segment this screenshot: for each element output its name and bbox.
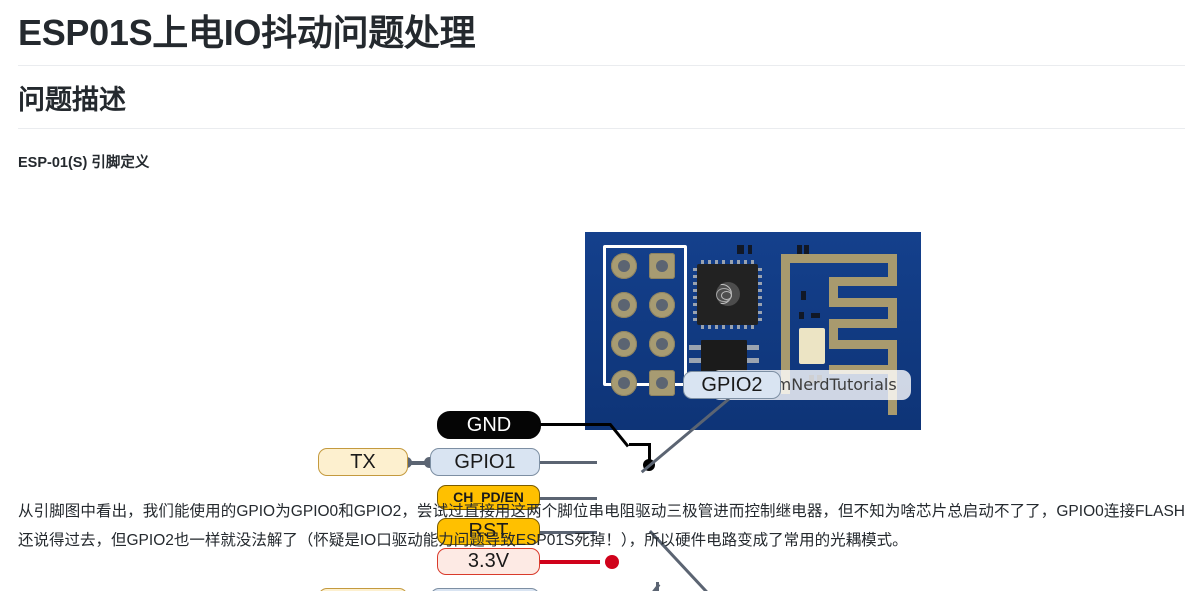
pad-chpd bbox=[611, 292, 637, 318]
chip-leads-left bbox=[693, 268, 697, 321]
wire-3v3-terminal bbox=[605, 555, 619, 569]
pad-3v3 bbox=[611, 370, 637, 396]
chip-leads-bottom bbox=[701, 325, 754, 329]
wire-3v3 bbox=[537, 560, 600, 564]
subheading-pin-definition: ESP-01(S) 引脚定义 bbox=[18, 129, 1185, 172]
body-paragraph: 从引脚图中看出，我们能使用的GPIO为GPIO0和GPIO2，尝试过直接用这两个… bbox=[18, 497, 1185, 555]
page-title: ESP01S上电IO抖动问题处理 bbox=[18, 0, 1185, 66]
esp01s-pinout-diagram: RandomNerdTutorials bbox=[0, 180, 1203, 480]
pad-gpio3 bbox=[649, 370, 675, 396]
wire-gnd-h bbox=[537, 423, 611, 426]
pad-gpio2 bbox=[649, 292, 675, 318]
label-gpio1[interactable]: GPIO1 bbox=[430, 448, 540, 476]
smd-component bbox=[748, 245, 752, 254]
chip-leads-top bbox=[701, 260, 754, 264]
espressif-logo-icon bbox=[716, 282, 740, 306]
section-heading-problem-description: 问题描述 bbox=[18, 66, 1185, 129]
chip-leads-right bbox=[758, 268, 762, 321]
document-page: ESP01S上电IO抖动问题处理 问题描述 ESP-01(S) 引脚定义 bbox=[0, 0, 1203, 591]
pad-gpio0 bbox=[649, 331, 675, 357]
pad-rst bbox=[611, 331, 637, 357]
wire-gpio1 bbox=[537, 461, 597, 464]
esp01s-pcb-board: RandomNerdTutorials bbox=[585, 232, 921, 430]
smd-component bbox=[737, 245, 744, 254]
label-tx[interactable]: TX bbox=[318, 448, 408, 476]
pad-gpio1 bbox=[611, 253, 637, 279]
pad-gnd bbox=[649, 253, 675, 279]
esp8266-chip bbox=[697, 264, 758, 325]
label-gnd[interactable]: GND bbox=[437, 411, 541, 439]
wire-gpio3-v bbox=[656, 582, 659, 591]
label-gpio2[interactable]: GPIO2 bbox=[683, 371, 781, 399]
